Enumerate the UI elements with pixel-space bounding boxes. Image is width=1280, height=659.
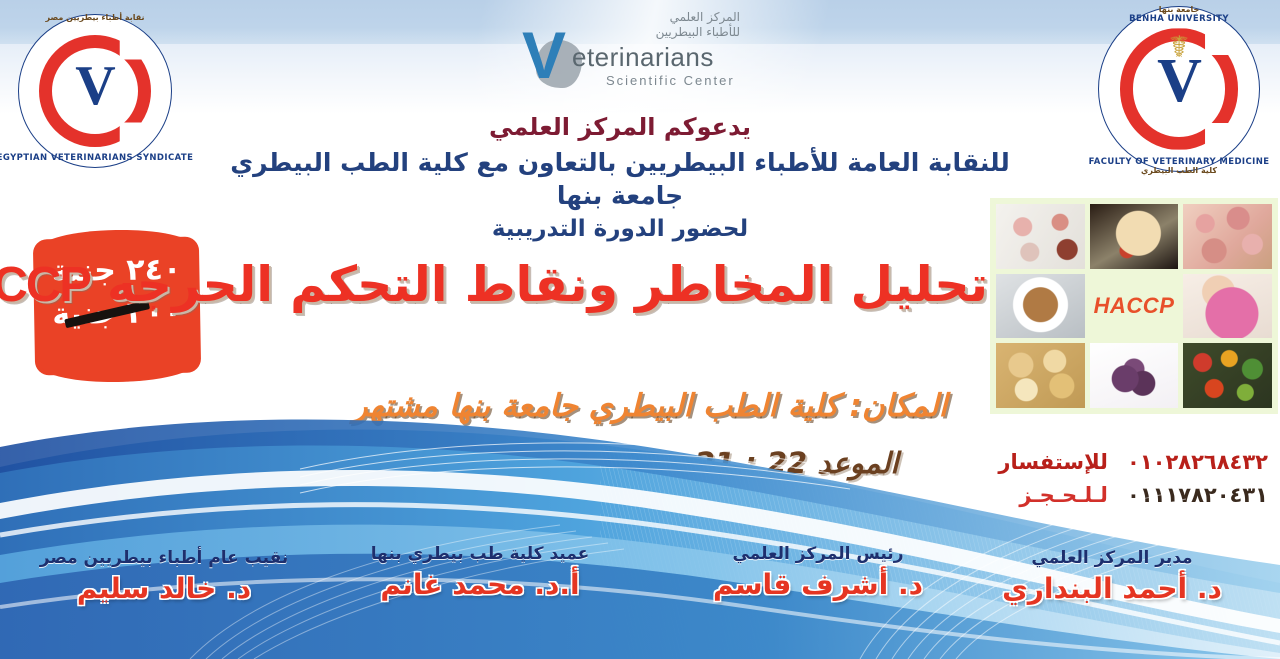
benha-university-vet-faculty-logo: ☤ V BENHA UNIVERSITY FACULTY OF VETERINA…: [1098, 6, 1260, 172]
invitation-line-3: لحضور الدورة التدريبية: [220, 214, 1020, 244]
course-title-english: HACCP: [0, 258, 90, 312]
vegetables-photo: [1183, 343, 1272, 408]
vsc-arabic-name: المركز العلمي للأطباء البيطريين: [656, 10, 740, 40]
event-poster: V EGYPTIAN VETERINARIANS SYNDICATE نقابة…: [0, 0, 1280, 659]
baked-dish-photo: [1090, 204, 1179, 269]
vsc-english-subtitle: Scientific Center: [606, 74, 735, 87]
syndicate-ring-text-en: EGYPTIAN VETERINARIANS SYNDICATE: [0, 153, 193, 163]
signature-name: أ.د. محمد غانم: [330, 568, 630, 601]
course-title-arabic: تحليل المخاطر ونقاط التحكم الحرجه: [107, 256, 988, 313]
signature-role: نقيب عام أطباء بيطريين مصر: [14, 548, 314, 568]
vsc-monogram: V: [522, 22, 566, 88]
egyptian-veterinarians-syndicate-logo: V EGYPTIAN VETERINARIANS SYNDICATE نقابة…: [18, 14, 172, 168]
signature-block-faculty-dean: عميد كلية طب بيطري بنها أ.د. محمد غانم: [330, 544, 630, 601]
signature-role: عميد كلية طب بيطري بنها: [330, 544, 630, 564]
vsc-english-name: eterinarians: [572, 44, 714, 70]
signature-block-syndicate-head: نقيب عام أطباء بيطريين مصر د. خالد سليم: [14, 548, 314, 605]
signature-name: د. أشرف قاسم: [668, 568, 968, 601]
signature-role: رئيس المركز العلمي: [668, 544, 968, 564]
coffee-cup-photo: [996, 274, 1085, 339]
food-photo-collage: HACCP: [990, 198, 1278, 414]
collage-center-label: HACCP: [1090, 274, 1179, 339]
signature-block-center-president: رئيس المركز العلمي د. أشرف قاسم: [668, 544, 968, 601]
infant-photo: [1183, 274, 1272, 339]
course-title: تحليل المخاطر ونقاط التحكم الحرجه HACCP: [228, 256, 988, 313]
veterinarians-scientific-center-logo: V المركز العلمي للأطباء البيطريين eterin…: [510, 4, 742, 100]
signature-role: مدير المركز العلمي: [962, 548, 1262, 568]
signature-block-center-director: مدير المركز العلمي د. أحمد البنداري: [962, 548, 1262, 605]
benha-ring-text-ar-top: جامعة بنها: [1159, 5, 1199, 14]
invitation-block: يدعوكم المركز العلمي للنقابة العامة للأط…: [220, 112, 1020, 244]
bottom-wave-decoration: [0, 407, 1280, 659]
cocoa-beans-photo: [1090, 343, 1179, 408]
benha-ring-text-ar-bottom: كلية الطب البيطري: [1141, 166, 1217, 175]
signature-name: د. أحمد البنداري: [962, 572, 1262, 605]
dairy-bread-photo: [996, 343, 1085, 408]
benha-ring-text-top: BENHA UNIVERSITY: [1129, 14, 1229, 24]
signature-name: د. خالد سليم: [14, 572, 314, 605]
syndicate-ring-text-ar: نقابة أطباء بيطريين مصر: [46, 13, 145, 22]
invitation-line-2: للنقابة العامة للأطباء البيطريين بالتعاو…: [220, 146, 1020, 212]
seafood-photo: [996, 204, 1085, 269]
invitation-line-1: يدعوكم المركز العلمي: [220, 112, 1020, 144]
processed-meat-photo: [1183, 204, 1272, 269]
